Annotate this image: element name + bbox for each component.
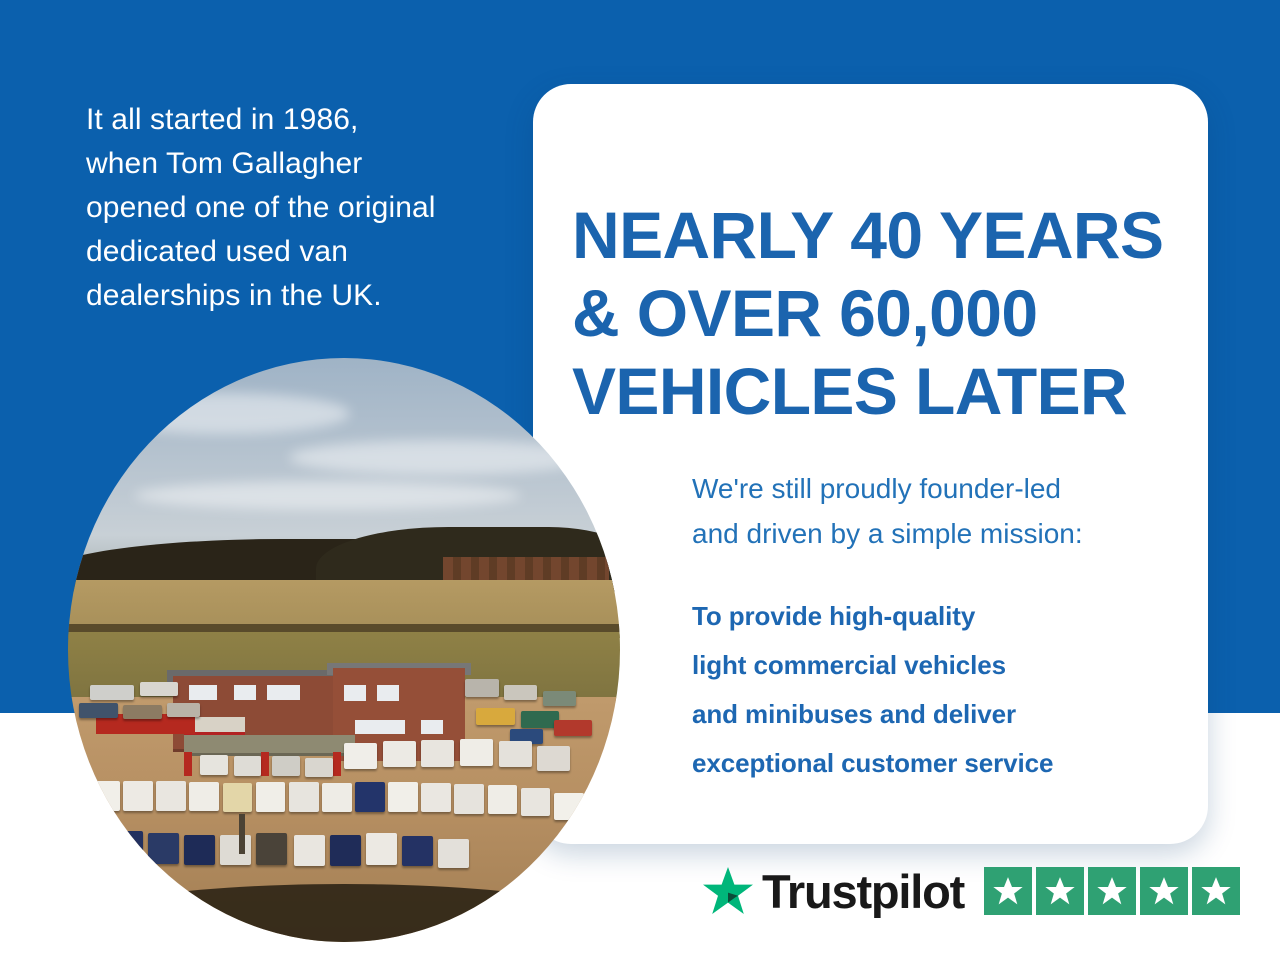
dealership-photo-artwork	[68, 358, 620, 942]
subheading-paragraph: We're still proudly founder-led and driv…	[692, 466, 1172, 556]
intro-paragraph: It all started in 1986, when Tom Gallagh…	[86, 98, 506, 318]
headline-line-3: VEHICLES LATER	[572, 352, 1192, 430]
intro-line-5: dealerships in the UK.	[86, 274, 506, 318]
mission-statement: To provide high-quality light commercial…	[692, 592, 1172, 788]
trustpilot-star-icon	[702, 866, 754, 916]
mission-line-4: exceptional customer service	[692, 739, 1172, 788]
trustpilot-logo[interactable]: Trustpilot	[702, 866, 964, 916]
star-icon	[1044, 875, 1076, 907]
rating-star-2	[1036, 867, 1084, 915]
intro-line-3: opened one of the original	[86, 186, 506, 230]
star-icon	[992, 875, 1024, 907]
mission-line-3: and minibuses and deliver	[692, 690, 1172, 739]
mission-line-2: light commercial vehicles	[692, 641, 1172, 690]
page-title: NEARLY 40 YEARS & OVER 60,000 VEHICLES L…	[572, 196, 1192, 430]
trustpilot-badge[interactable]: Trustpilot	[702, 866, 1240, 916]
trustpilot-rating-stars[interactable]	[984, 867, 1240, 915]
promo-graphic: It all started in 1986, when Tom Gallagh…	[0, 0, 1280, 960]
star-icon	[1096, 875, 1128, 907]
rating-star-5	[1192, 867, 1240, 915]
star-icon	[1200, 875, 1232, 907]
rating-star-1	[984, 867, 1032, 915]
intro-line-1: It all started in 1986,	[86, 98, 506, 142]
headline-line-2: & OVER 60,000	[572, 274, 1192, 352]
dealership-photo	[68, 358, 620, 942]
headline-line-1: NEARLY 40 YEARS	[572, 196, 1192, 274]
trustpilot-wordmark: Trustpilot	[762, 868, 964, 915]
subcopy-line-2: and driven by a simple mission:	[692, 511, 1172, 556]
star-icon	[1148, 875, 1180, 907]
mission-line-1: To provide high-quality	[692, 592, 1172, 641]
rating-star-3	[1088, 867, 1136, 915]
rating-star-4	[1140, 867, 1188, 915]
subcopy-line-1: We're still proudly founder-led	[692, 466, 1172, 511]
intro-line-4: dedicated used van	[86, 230, 506, 274]
intro-line-2: when Tom Gallagher	[86, 142, 506, 186]
